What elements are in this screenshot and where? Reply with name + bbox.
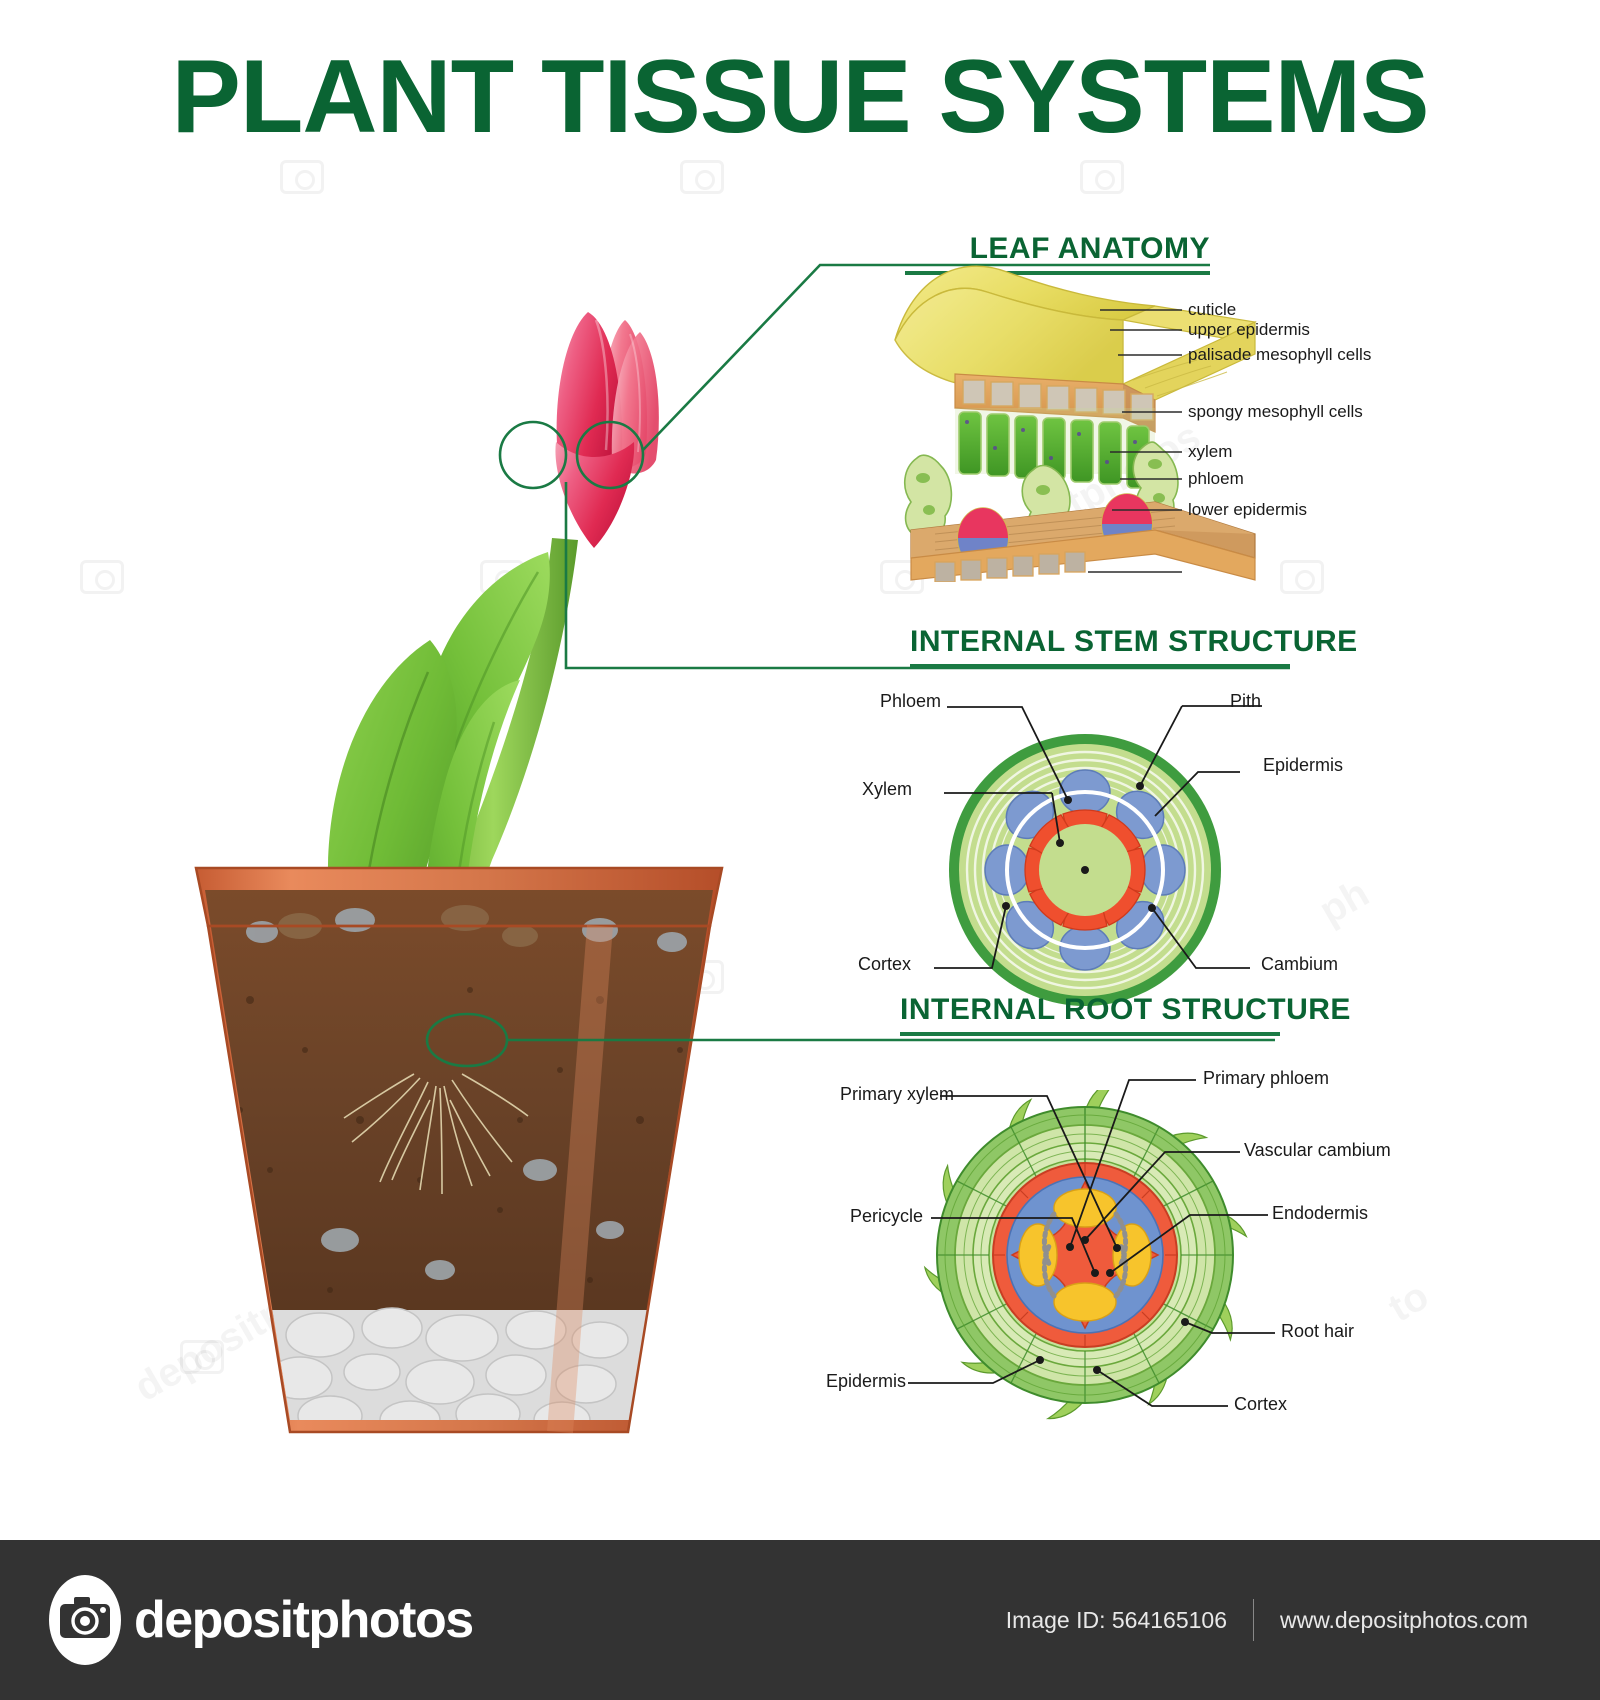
leaf-label-xylem: xylem <box>1188 442 1232 462</box>
root-label-pericycle: Pericycle <box>850 1206 923 1227</box>
root-label-vascular-cambium: Vascular cambium <box>1244 1140 1391 1161</box>
section-rule <box>910 664 1290 668</box>
section-rule <box>905 271 1210 275</box>
stem-label-cambium: Cambium <box>1261 954 1338 975</box>
leaf-label-cuticle: cuticle <box>1188 300 1236 320</box>
website-text[interactable]: www.depositphotos.com <box>1280 1607 1528 1634</box>
footer-meta: Image ID: 564165106 www.depositphotos.co… <box>1006 1599 1528 1641</box>
footer-divider <box>1253 1599 1254 1641</box>
stem-label-pith: Pith <box>1230 691 1261 712</box>
root-label-root-hair: Root hair <box>1281 1321 1354 1342</box>
root-label-epidermis: Epidermis <box>826 1371 906 1392</box>
section-heading-stem-text: INTERNAL STEM STRUCTURE <box>910 625 1290 659</box>
footer-bar: depositphotos Image ID: 564165106 www.de… <box>0 1540 1600 1700</box>
depositphotos-logo: depositphotos <box>48 1574 473 1666</box>
image-id-text: Image ID: 564165106 <box>1006 1607 1227 1634</box>
stem-label-phloem: Phloem <box>880 691 941 712</box>
stem-leader-lines <box>0 0 1600 1700</box>
section-heading-leaf-text: LEAF ANATOMY <box>905 232 1210 266</box>
root-label-endodermis: Endodermis <box>1272 1203 1368 1224</box>
plant-illustration <box>0 120 860 1640</box>
root-leader-lines <box>0 0 1600 1700</box>
page-title: PLANT TISSUE SYSTEMS <box>0 38 1600 157</box>
root-label-primary-xylem: Primary xylem <box>840 1084 954 1105</box>
leaf-label-phloem: phloem <box>1188 469 1244 489</box>
brand-name: depositphotos <box>134 1590 473 1650</box>
section-heading-stem: INTERNAL STEM STRUCTURE <box>910 625 1290 668</box>
root-label-primary-phloem: Primary phloem <box>1203 1068 1329 1089</box>
stem-label-xylem: Xylem <box>862 779 912 800</box>
stem-label-cortex: Cortex <box>858 954 911 975</box>
leaf-label-lower-epidermis: lower epidermis <box>1188 500 1307 520</box>
leaf-label-upper-epidermis: upper epidermis <box>1188 320 1310 340</box>
root-label-cortex: Cortex <box>1234 1394 1287 1415</box>
section-heading-root-text: INTERNAL ROOT STRUCTURE <box>900 993 1280 1027</box>
leaf-leader-lines <box>0 0 1600 1700</box>
section-rule <box>900 1032 1280 1036</box>
stem-label-epidermis: Epidermis <box>1263 755 1343 776</box>
section-heading-root: INTERNAL ROOT STRUCTURE <box>900 993 1280 1036</box>
leaf-label-palisade-mesophyll-cells: palisade mesophyll cells <box>1188 345 1371 365</box>
leaf-label-spongy-mesophyll-cells: spongy mesophyll cells <box>1188 402 1363 422</box>
section-heading-leaf: LEAF ANATOMY <box>905 232 1210 275</box>
callout-connectors <box>0 0 1600 1700</box>
camera-icon <box>48 1574 122 1666</box>
